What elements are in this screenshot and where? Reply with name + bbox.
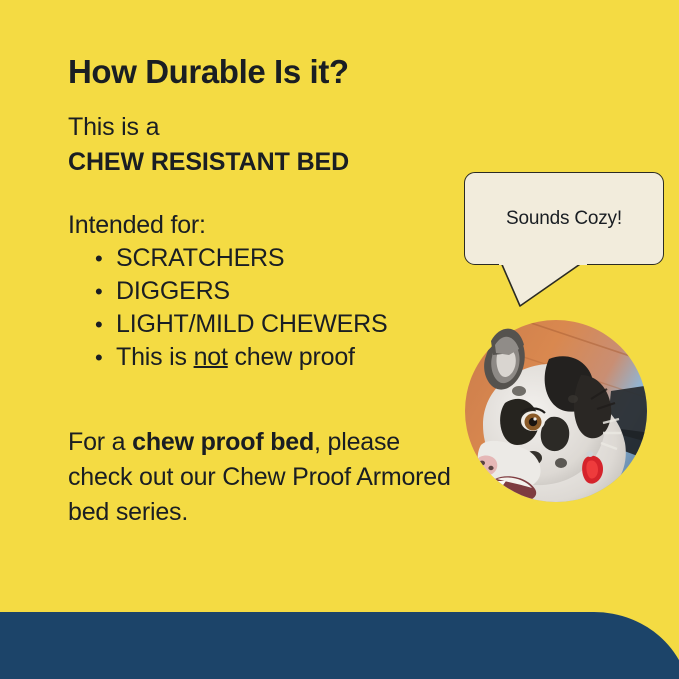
list-item-label: LIGHT/MILD CHEWERS	[116, 310, 387, 338]
list-item: This is not chew proof	[68, 341, 387, 374]
speech-bubble: Sounds Cozy!	[464, 172, 664, 307]
list-item-suffix: chew proof	[228, 343, 355, 371]
closing-bold: chew proof bed	[132, 428, 314, 456]
intended-for-label: Intended for:	[68, 208, 387, 242]
list-item-prefix: This is	[116, 343, 194, 371]
dog-photo	[461, 303, 651, 503]
closing-lead: For a	[68, 428, 132, 456]
intended-for-block: Intended for: SCRATCHERS DIGGERS LIGHT/M…	[68, 208, 387, 374]
promo-graphic: How Durable Is it? This is a CHEW RESIST…	[0, 0, 679, 679]
list-item: LIGHT/MILD CHEWERS	[68, 308, 387, 341]
intro-line-2: CHEW RESISTANT BED	[68, 145, 349, 180]
list-item-label: SCRATCHERS	[116, 244, 284, 272]
intended-for-list: SCRATCHERS DIGGERS LIGHT/MILD CHEWERS Th…	[68, 242, 387, 374]
footer-band	[0, 612, 679, 679]
list-item: SCRATCHERS	[68, 242, 387, 275]
intro-line-1: This is a	[68, 110, 349, 145]
list-item-emphasis: not	[194, 343, 228, 371]
closing-paragraph: For a chew proof bed, please check out o…	[68, 425, 468, 530]
list-item: DIGGERS	[68, 275, 387, 308]
intro-block: This is a CHEW RESISTANT BED	[68, 110, 349, 180]
page-title: How Durable Is it?	[68, 53, 349, 91]
speech-bubble-text: Sounds Cozy!	[464, 172, 664, 265]
border-collie-photo-icon	[461, 303, 651, 503]
list-item-label: DIGGERS	[116, 277, 230, 305]
speech-bubble-tail-icon	[498, 260, 588, 308]
